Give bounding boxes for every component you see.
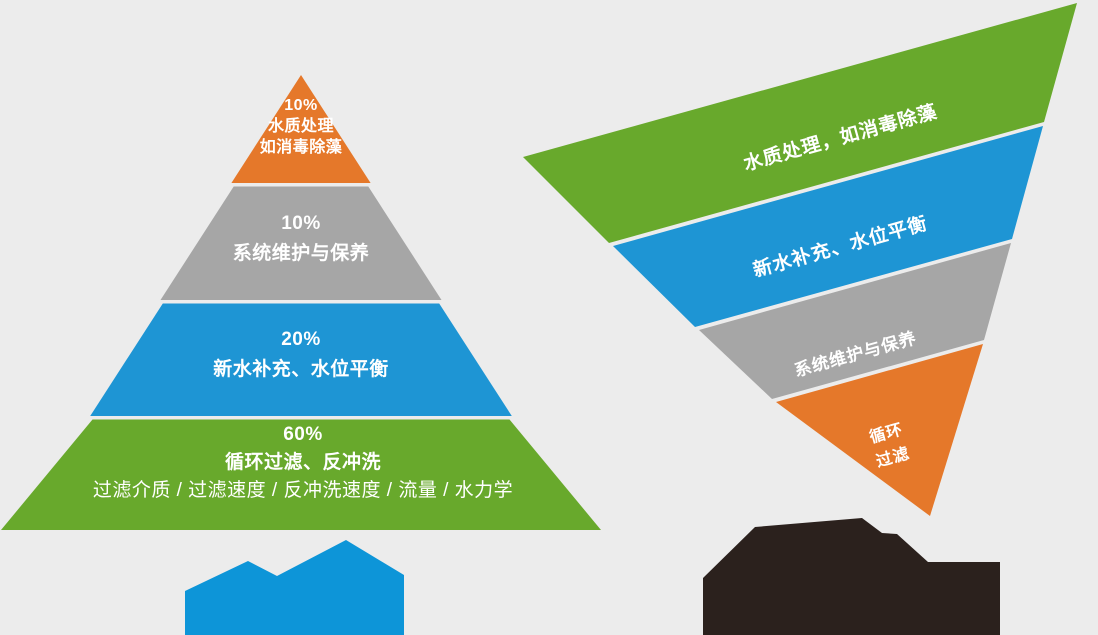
shapes-layer: [0, 0, 1098, 635]
pyramid-tier-circulation-filtration[interactable]: [1, 420, 601, 531]
blue-peaks-shape: [185, 540, 404, 635]
left-pyramid: [1, 75, 601, 530]
pyramid-tier-system-maintenance[interactable]: [161, 187, 442, 301]
right-funnel: [523, 3, 1077, 516]
dark-mass-shape: [703, 518, 1000, 635]
diagram-canvas: 10% 水质处理 如消毒除藻 10% 系统维护与保养 20% 新水补充、水位平衡…: [0, 0, 1098, 635]
pyramid-tier-water-quality[interactable]: [231, 75, 370, 183]
pyramid-tier-water-replenish[interactable]: [90, 304, 512, 417]
